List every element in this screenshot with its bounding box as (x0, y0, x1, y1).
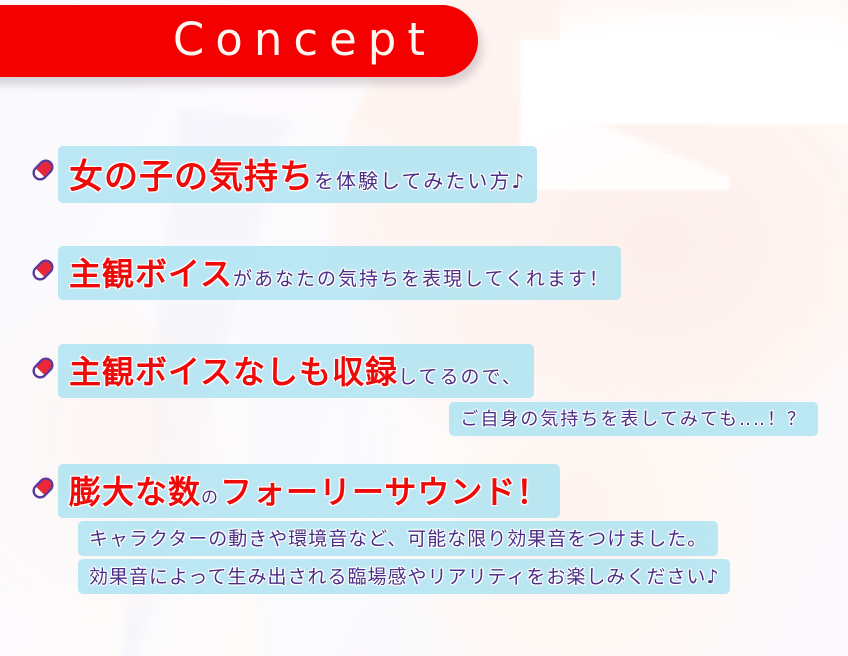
bullet-3-line-1: 主観ボイスなしも収録 してるので、 (58, 344, 534, 398)
concept-slide: Concept 女の子の気持ち を体験してみたい方♪ (0, 0, 848, 656)
bullet-3-subtext: ご自身の気持ちを表してみても‥‥！？ (460, 405, 807, 431)
bullet-1-line-1: 女の子の気持ち を体験してみたい方♪ (58, 146, 537, 203)
bullet-4-highlight-b: フォーリーサウンド！ (220, 467, 549, 513)
bullet-1-text: を体験してみたい方♪ (314, 165, 526, 194)
bullet-2-text: があなたの気持ちを表現してくれます！ (233, 264, 610, 291)
bullet-4-body-1: キャラクターの動きや環境音など、可能な限り効果音をつけました。 (89, 524, 707, 551)
bullet-4-body-2: 効果音によって生み出される臨場感やリアリティをお楽しみください♪ (89, 562, 719, 589)
capsule-pill-icon (28, 155, 58, 185)
capsule-pill-icon (28, 473, 58, 503)
concept-title-badge: Concept (0, 5, 478, 77)
bullet-4-line-1: 膨大な数 の フォーリーサウンド！ (58, 464, 560, 518)
bullet-item-4: 膨大な数 の フォーリーサウンド！ キャラクターの動きや環境音など、可能な限り効… (28, 464, 828, 594)
bullet-3-lines: 主観ボイスなしも収録 してるので、 ご自身の気持ちを表してみても‥‥！？ (58, 344, 818, 436)
capsule-pill-icon (28, 353, 58, 383)
bullet-1-highlight: 女の子の気持ち (69, 149, 314, 198)
bullet-1-lines: 女の子の気持ち を体験してみたい方♪ (58, 146, 537, 203)
bullet-4-line-2: キャラクターの動きや環境音など、可能な限り効果音をつけました。 (78, 521, 718, 556)
page-title: Concept (173, 17, 436, 66)
bullet-item-3: 主観ボイスなしも収録 してるので、 ご自身の気持ちを表してみても‥‥！？ (28, 344, 818, 436)
bullet-3-text: してるので、 (398, 362, 523, 389)
bullet-3-highlight: 主観ボイスなしも収録 (69, 347, 398, 393)
bullet-item-1: 女の子の気持ち を体験してみたい方♪ (28, 146, 537, 203)
bullet-2-lines: 主観ボイス があなたの気持ちを表現してくれます！ (58, 246, 621, 300)
capsule-pill-icon (28, 255, 58, 285)
bullet-item-2: 主観ボイス があなたの気持ちを表現してくれます！ (28, 246, 621, 300)
bullet-3-line-2: ご自身の気持ちを表してみても‥‥！？ (449, 402, 818, 436)
bullet-4-lines: 膨大な数 の フォーリーサウンド！ キャラクターの動きや環境音など、可能な限り効… (58, 464, 828, 594)
bullet-2-line-1: 主観ボイス があなたの気持ちを表現してくれます！ (58, 246, 621, 300)
bullet-2-highlight: 主観ボイス (69, 249, 233, 295)
bullet-4-highlight-a: 膨大な数 (69, 467, 201, 513)
bullet-4-line-3: 効果音によって生み出される臨場感やリアリティをお楽しみください♪ (78, 559, 730, 594)
bullet-4-particle: の (201, 483, 220, 508)
